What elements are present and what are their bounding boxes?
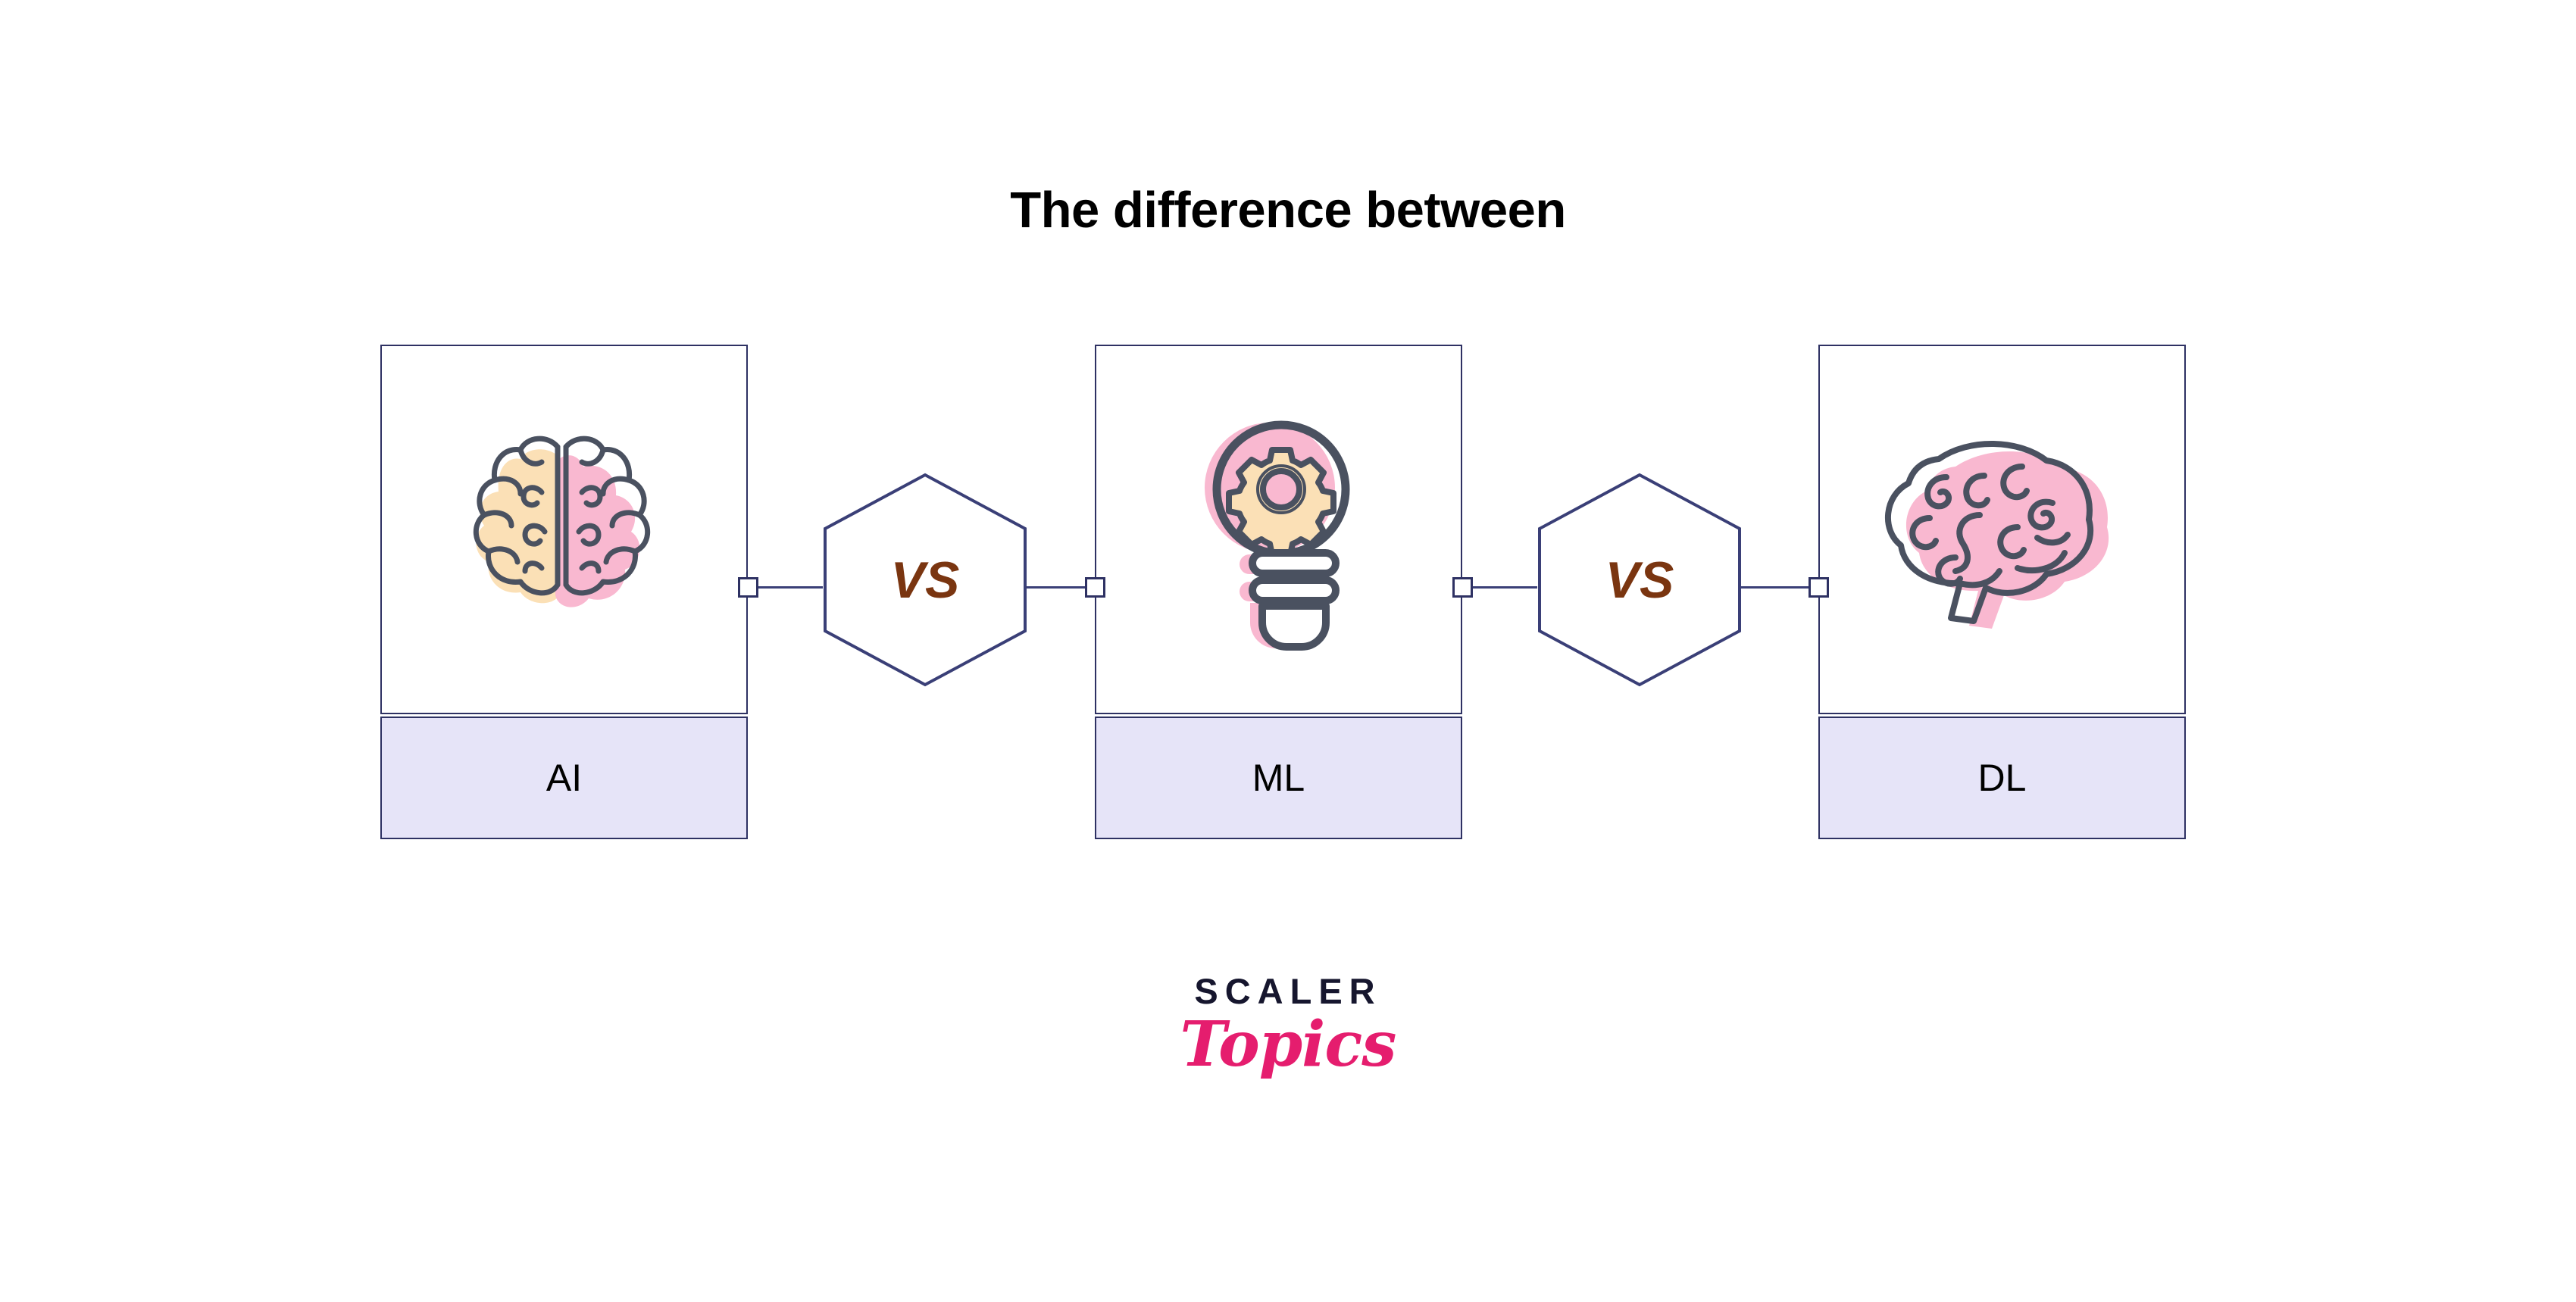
card-dl[interactable]: DL xyxy=(1818,345,2186,839)
comparison-diagram: AI xyxy=(0,0,2576,1302)
brain-hemispheres-icon xyxy=(451,420,678,639)
connector-line-vs2-dl xyxy=(1741,586,1809,589)
connector-line-ml-vs2 xyxy=(1472,586,1537,589)
card-ml[interactable]: ML xyxy=(1095,345,1462,839)
card-ml-label-strip: ML xyxy=(1095,717,1462,839)
connector-line-vs1-ml xyxy=(1027,586,1086,589)
connector-port-ml-right[interactable] xyxy=(1452,577,1473,598)
card-ml-icon-area xyxy=(1095,345,1462,714)
card-ai-label: AI xyxy=(546,759,582,797)
connector-port-ai-right[interactable] xyxy=(738,577,758,598)
brain-profile-icon xyxy=(1874,420,2131,639)
card-ai-icon-area xyxy=(380,345,748,714)
lightbulb-gear-icon xyxy=(1180,404,1377,654)
brand-wordmark: SCALER xyxy=(0,973,2576,1009)
vs-node-2[interactable]: VS xyxy=(1537,473,1742,687)
card-ai[interactable]: AI xyxy=(380,345,748,839)
brand-logo: SCALER Topics xyxy=(0,973,2576,1077)
vs-node-1[interactable]: VS xyxy=(823,473,1027,687)
card-dl-label-strip: DL xyxy=(1818,717,2186,839)
connector-line-ai-vs1 xyxy=(758,586,823,589)
brand-subwordmark: Topics xyxy=(0,1012,2576,1077)
connector-port-dl-left[interactable] xyxy=(1809,577,1829,598)
connector-port-ml-left[interactable] xyxy=(1085,577,1105,598)
vs-node-1-label: VS xyxy=(823,473,1027,687)
card-dl-label: DL xyxy=(1978,759,2027,797)
card-ml-label: ML xyxy=(1252,759,1305,797)
card-dl-icon-area xyxy=(1818,345,2186,714)
card-ai-label-strip: AI xyxy=(380,717,748,839)
vs-node-2-label: VS xyxy=(1537,473,1742,687)
